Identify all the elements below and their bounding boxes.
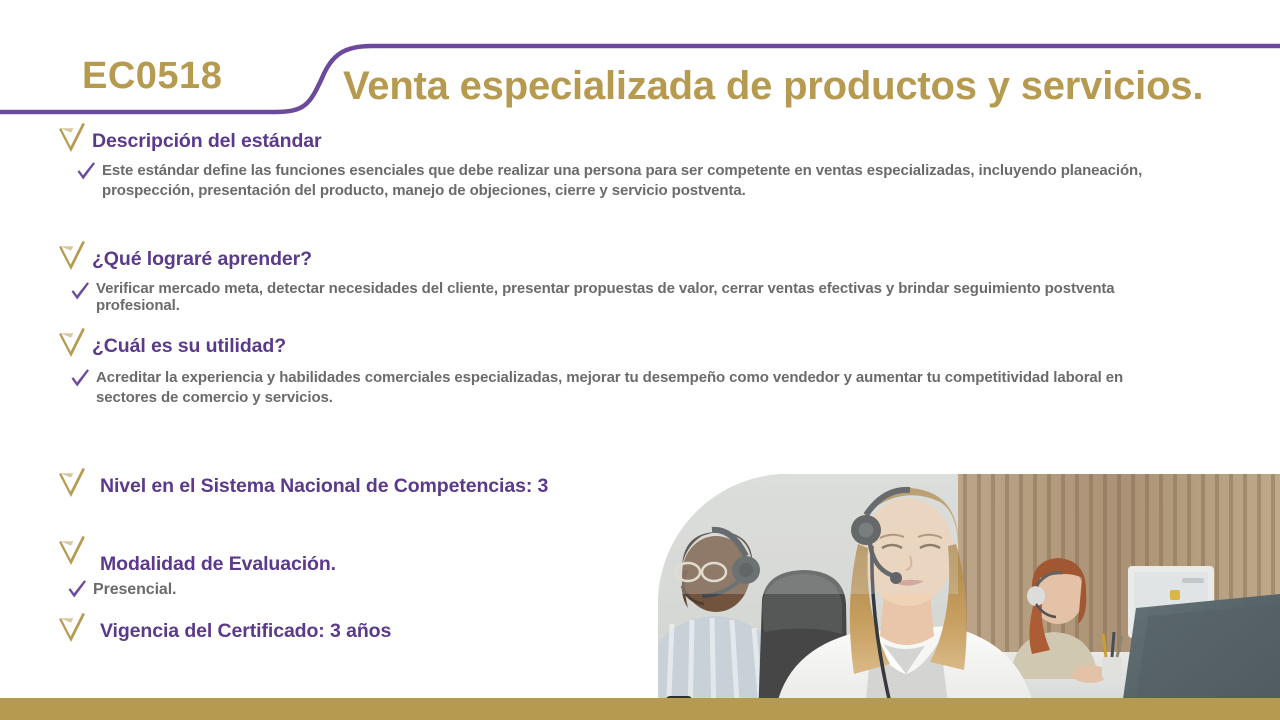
bullet-text: Este estándar define las funciones esenc…: [102, 161, 1211, 202]
bullet-item: Este estándar define las funciones esenc…: [76, 161, 1211, 202]
section-que-aprendere: ¿Qué lograré aprender? Verificar mercado…: [56, 246, 1165, 315]
bullet-text: Presencial.: [93, 579, 176, 601]
section-heading: Modalidad de Evaluación.: [56, 541, 336, 576]
section-title: ¿Qué lograré aprender?: [92, 246, 312, 271]
bullet-item: Acreditar la experiencia y habilidades c…: [70, 368, 1170, 409]
section-heading: Descripción del estándar: [56, 128, 1211, 154]
page-title: Venta especializada de productos y servi…: [343, 64, 1203, 109]
section-title: ¿Cuál es su utilidad?: [92, 333, 286, 358]
section-heading: Nivel en el Sistema Nacional de Competen…: [56, 473, 548, 499]
section-heading: ¿Cuál es su utilidad?: [56, 333, 1170, 359]
v-check-icon: [56, 240, 86, 272]
footer-bar: [0, 698, 1280, 720]
v-check-icon: [56, 467, 86, 499]
section-nivel: Nivel en el Sistema Nacional de Competen…: [56, 473, 548, 499]
bullet-text: Verificar mercado meta, detectar necesid…: [96, 281, 1165, 315]
section-title: Nivel en el Sistema Nacional de Competen…: [100, 473, 548, 498]
standard-code: EC0518: [82, 55, 222, 98]
section-title: Descripción del estándar: [92, 128, 322, 153]
section-modalidad: Modalidad de Evaluación. Presencial.: [56, 541, 336, 601]
check-icon: [67, 580, 87, 600]
v-check-icon: [56, 535, 86, 567]
section-heading: Vigencia del Certificado: 3 años: [56, 618, 391, 644]
section-vigencia: Vigencia del Certificado: 3 años: [56, 618, 391, 644]
check-icon: [76, 162, 96, 182]
check-icon: [70, 369, 90, 389]
call-center-photo: [658, 474, 1280, 720]
v-check-icon: [56, 612, 86, 644]
check-icon: [70, 282, 90, 302]
bullet-item: Verificar mercado meta, detectar necesid…: [70, 281, 1165, 315]
bullet-item: Presencial.: [67, 579, 336, 601]
section-descripcion: Descripción del estándar Este estándar d…: [56, 128, 1211, 202]
section-title: Vigencia del Certificado: 3 años: [100, 618, 391, 643]
v-check-icon: [56, 327, 86, 359]
bullet-text: Acreditar la experiencia y habilidades c…: [96, 368, 1170, 409]
section-utilidad: ¿Cuál es su utilidad? Acreditar la exper…: [56, 333, 1170, 409]
section-heading: ¿Qué lograré aprender?: [56, 246, 1165, 272]
v-check-icon: [56, 122, 86, 154]
slide-canvas: EC0518 Venta especializada de productos …: [0, 0, 1280, 720]
section-title: Modalidad de Evaluación.: [100, 541, 336, 576]
